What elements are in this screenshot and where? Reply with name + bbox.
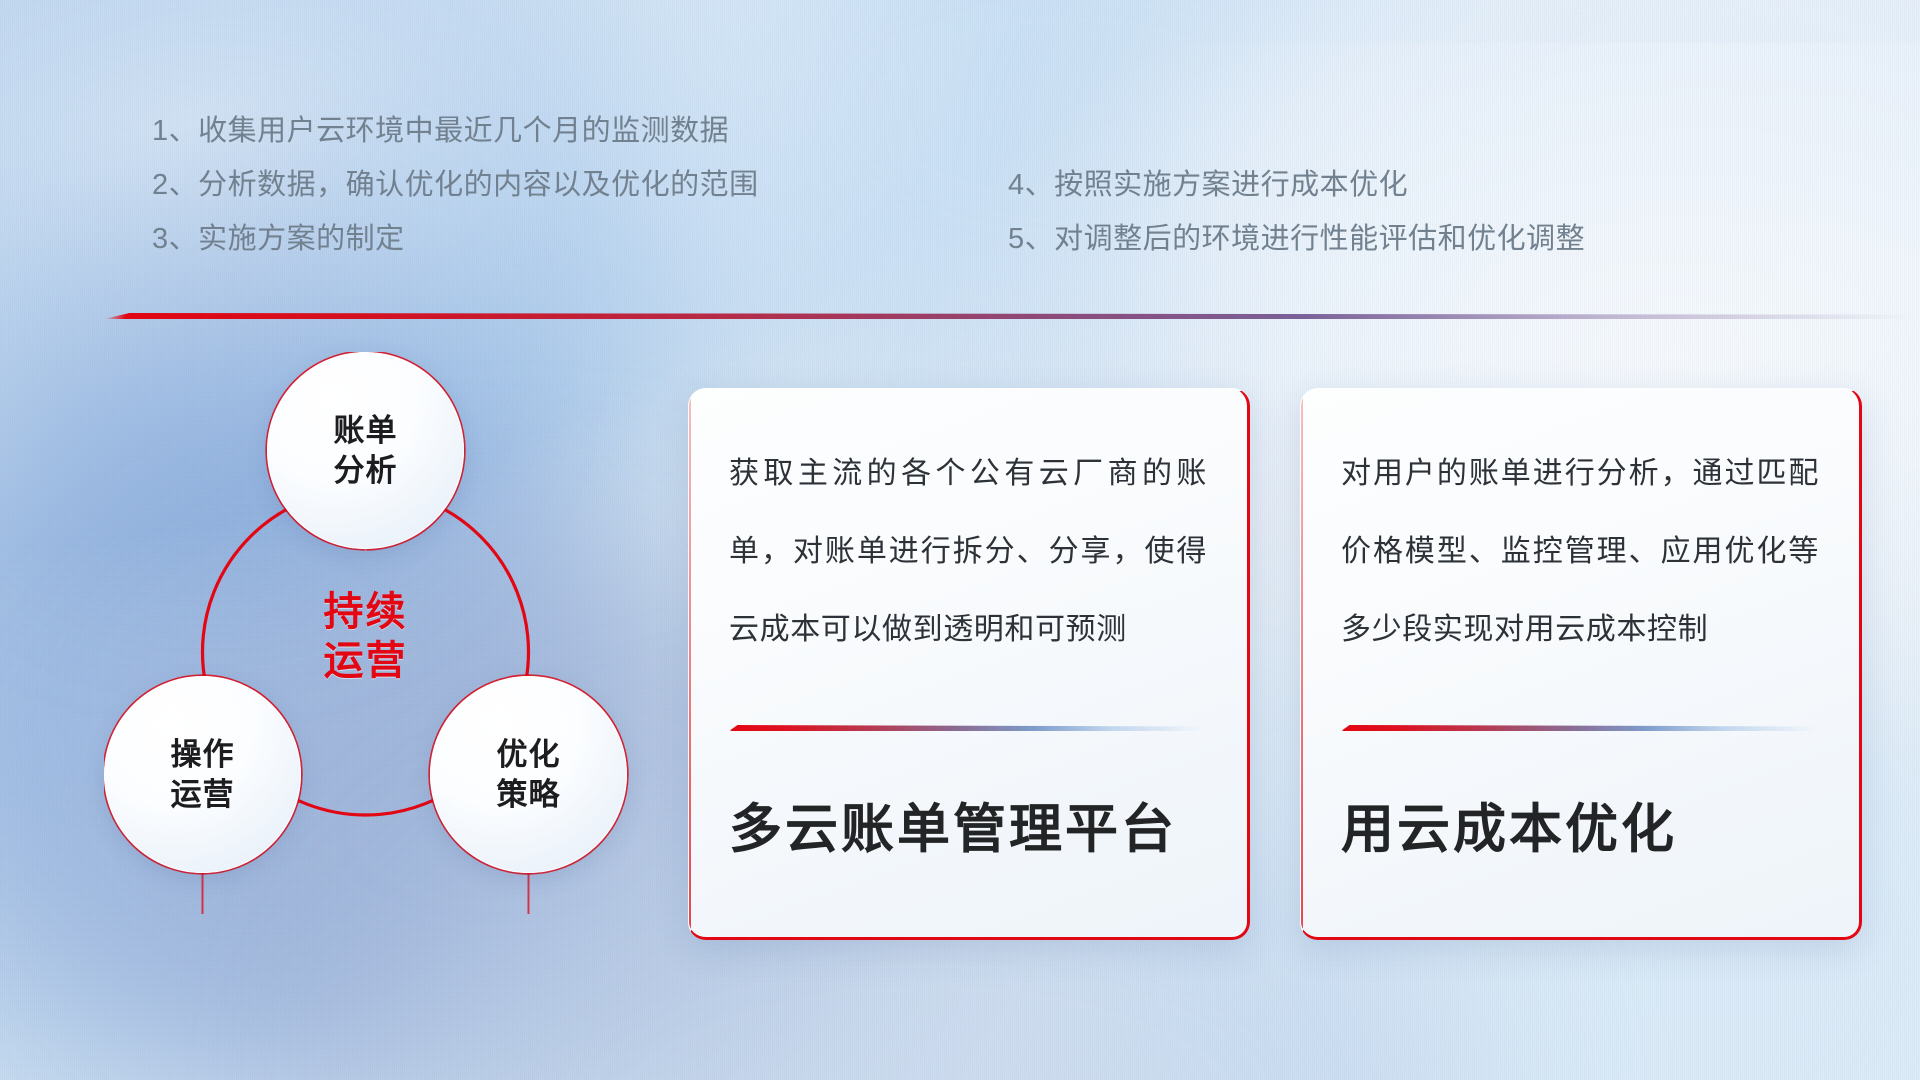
- continuous-operation-diagram: 账单 分析 操作 运营 优化 策略 持续 运营: [104, 352, 664, 942]
- step-item: 1、收集用户云环境中最近几个月的监测数据: [152, 104, 759, 158]
- node-label-line2: 分析: [334, 451, 398, 491]
- card-description: 获取主流的各个公有云厂商的账单，对账单进行拆分、分享，使得云成本可以做到透明和可…: [729, 435, 1207, 669]
- node-label-line1: 优化: [497, 735, 561, 775]
- card-divider: [729, 725, 1205, 731]
- step-list-left: 1、收集用户云环境中最近几个月的监测数据 2、分析数据，确认优化的内容以及优化的…: [152, 104, 759, 266]
- feature-card-multi-cloud-billing[interactable]: 获取主流的各个公有云厂商的账单，对账单进行拆分、分享，使得云成本可以做到透明和可…: [688, 388, 1250, 940]
- card-description: 对用户的账单进行分析，通过匹配价格模型、监控管理、应用优化等多少段实现对用云成本…: [1341, 435, 1819, 669]
- node-label-line1: 操作: [171, 735, 235, 775]
- step-item: 2、分析数据，确认优化的内容以及优化的范围: [152, 158, 759, 212]
- diagram-center-label: 持续 运营: [267, 532, 464, 742]
- center-label-line2: 运营: [324, 637, 408, 686]
- card-divider: [1341, 725, 1817, 731]
- diagram-node-billing-analysis[interactable]: 账单 分析: [267, 352, 464, 549]
- node-label-line1: 账单: [334, 411, 398, 451]
- card-title: 多云账单管理平台: [729, 787, 1177, 863]
- feature-card-cloud-cost-optimization[interactable]: 对用户的账单进行分析，通过匹配价格模型、监控管理、应用优化等多少段实现对用云成本…: [1300, 388, 1862, 940]
- card-title: 用云成本优化: [1341, 787, 1677, 863]
- step-item: 4、按照实施方案进行成本优化: [1008, 158, 1585, 212]
- step-item: 5、对调整后的环境进行性能评估和优化调整: [1008, 212, 1585, 266]
- center-label-line1: 持续: [324, 588, 408, 637]
- step-list-right: 4、按照实施方案进行成本优化 5、对调整后的环境进行性能评估和优化调整: [1008, 158, 1585, 266]
- step-item: 3、实施方案的制定: [152, 212, 759, 266]
- node-label-line2: 运营: [171, 775, 235, 815]
- node-label-line2: 策略: [497, 775, 561, 815]
